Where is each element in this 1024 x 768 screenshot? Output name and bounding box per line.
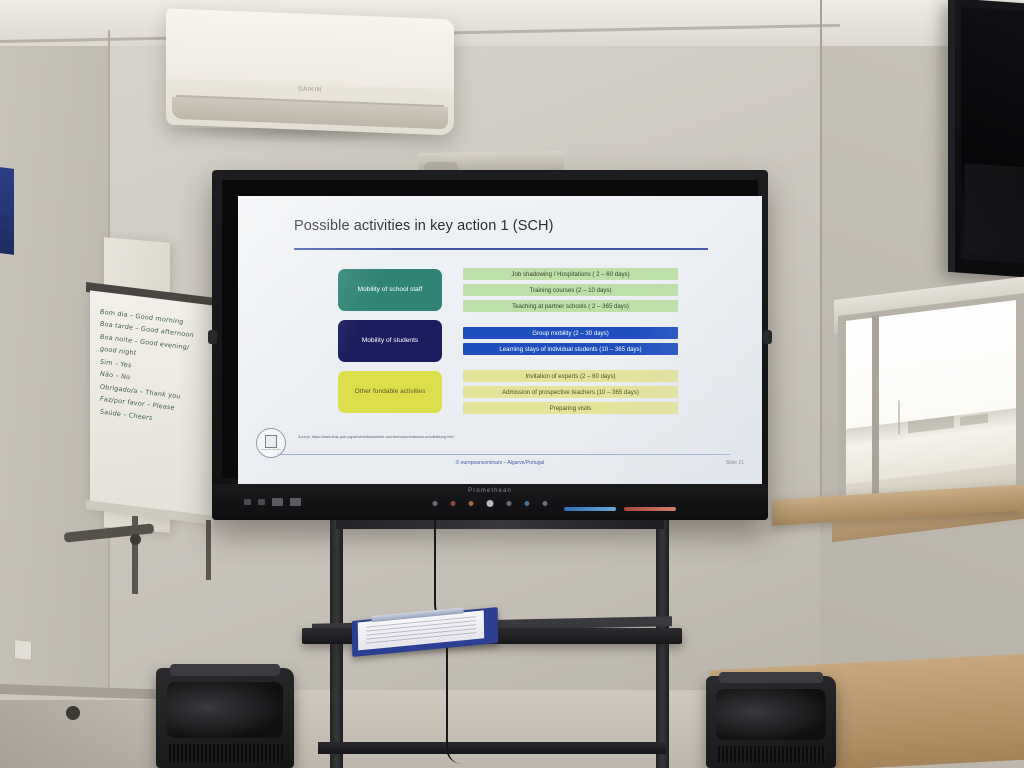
activities-matrix: Mobility of school staff Job shadowing /… (338, 268, 678, 422)
home-icon[interactable] (507, 501, 512, 506)
trolley-base-bar (318, 742, 666, 754)
activity-item: Group mobility (2 – 30 days) (463, 327, 678, 339)
panel-button-row[interactable] (433, 500, 548, 507)
matrix-row: Mobility of school staff Job shadowing /… (338, 268, 678, 312)
usb-port[interactable] (258, 499, 265, 505)
panel-bezel: Possible activities in key action 1 (SCH… (222, 180, 758, 478)
hdmi-port[interactable] (272, 498, 283, 506)
mast-pole (898, 400, 900, 434)
usb-port[interactable] (244, 499, 251, 505)
speaker-top (170, 664, 280, 676)
speaker-horn (716, 689, 825, 741)
wall-corner-right (820, 0, 822, 520)
slide-source: Source: https://www.kmk-pad.org/service/… (298, 435, 454, 439)
window-mullion (872, 315, 879, 516)
activity-item: Learning stays of individual students (1… (463, 343, 678, 355)
panel-control-bar: Promethean (212, 484, 768, 520)
interactive-flat-panel[interactable]: Possible activities in key action 1 (SCH… (212, 170, 768, 520)
matrix-row: Other fundable activities Invitation of … (338, 370, 678, 414)
caster-wheel (130, 534, 141, 545)
whiteboard-notes: Bom dia – Good morningBoa tarde – Good a… (100, 306, 210, 432)
red-stylus-pen[interactable] (624, 507, 676, 511)
panel-side-handle (208, 330, 217, 344)
slide-title-rule (294, 248, 708, 250)
whiteboard: Bom dia – Good morningBoa tarde – Good a… (90, 290, 214, 517)
activity-item: Job shadowing / Hospitations ( 2 – 60 da… (463, 268, 678, 280)
daikin-logo: DAIKIN (298, 87, 322, 94)
wall-tv[interactable] (948, 0, 1024, 278)
activity-item: Teaching at partner schools ( 2 – 365 da… (463, 300, 678, 312)
air-conditioner: DAIKIN (166, 8, 454, 135)
panel-port-group[interactable] (244, 498, 301, 506)
whiteboard-leg (206, 520, 211, 580)
ac-air-vent (172, 97, 448, 130)
ac-body (166, 8, 454, 89)
caster-wheel (66, 706, 80, 720)
indicator-icon (451, 501, 456, 506)
menu-icon[interactable] (543, 501, 548, 506)
speaker-right (706, 676, 836, 768)
slide-title: Possible activities in key action 1 (SCH… (294, 218, 554, 234)
item-group: Job shadowing / Hospitations ( 2 – 60 da… (463, 268, 678, 312)
footer-rule (278, 454, 730, 455)
input-icon[interactable] (525, 501, 530, 506)
category-mobility-school-staff: Mobility of school staff (338, 269, 442, 311)
promethean-brand: Promethean (468, 488, 512, 494)
footer-credit: © europeanseminars – Algarve/Portugal (238, 460, 762, 466)
matrix-row: Mobility of students Group mobility (2 –… (338, 320, 678, 362)
activity-item: Training courses (2 – 10 days) (463, 284, 678, 296)
speaker-top (719, 672, 823, 683)
item-group: Group mobility (2 – 30 days) Learning st… (463, 327, 678, 355)
category-other-fundable-activities: Other fundable activities (338, 371, 442, 413)
wall-outlet (14, 639, 32, 661)
speaker-horn (167, 682, 283, 738)
slide-number: Slide 21 (726, 460, 744, 466)
classroom-photo: DAIKIN Bom dia – (0, 0, 1024, 768)
blue-stylus-pen[interactable] (564, 507, 616, 511)
panel-side-handle (763, 330, 772, 344)
logo-caption: european seminars (261, 449, 281, 451)
trolley-upright (330, 520, 343, 768)
presentation-slide: Possible activities in key action 1 (SCH… (238, 196, 762, 484)
hdmi-port[interactable] (290, 498, 301, 506)
activity-item: Preparing visits (463, 402, 678, 414)
activity-item: Admission of prospective teachers (10 – … (463, 386, 678, 398)
category-mobility-of-students: Mobility of students (338, 320, 442, 362)
logo-mark (265, 435, 277, 448)
trolley-crossbar (336, 520, 664, 529)
power-cable (446, 644, 462, 764)
activity-item: Invitation of experts (2 – 60 days) (463, 370, 678, 382)
whiteboard-stand: Bom dia – Good morningBoa tarde – Good a… (86, 290, 222, 540)
panel-screen[interactable]: Possible activities in key action 1 (SCH… (238, 196, 762, 484)
tv-reflection (965, 163, 1024, 258)
trolley-upright (656, 520, 669, 768)
settings-icon[interactable] (433, 501, 438, 506)
power-icon[interactable] (487, 500, 494, 507)
speaker-grille (716, 746, 825, 763)
item-group: Invitation of experts (2 – 60 days) Admi… (463, 370, 678, 414)
volume-icon[interactable] (469, 501, 474, 506)
speaker-left (156, 668, 294, 768)
wall-blue-panel (0, 167, 14, 255)
speaker-grille (167, 744, 283, 762)
